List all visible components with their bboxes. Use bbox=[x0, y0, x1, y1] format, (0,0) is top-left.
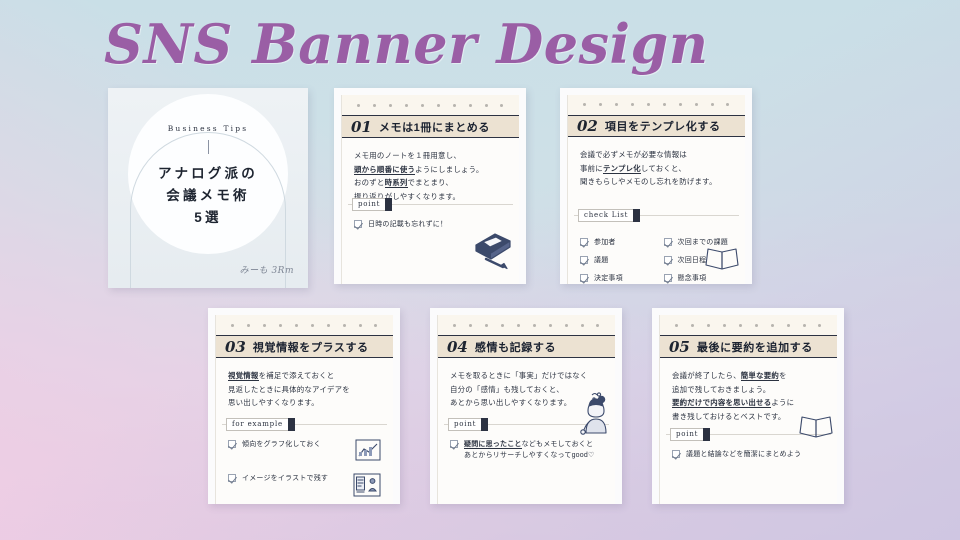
punch-hole-dot bbox=[437, 104, 440, 107]
punch-hole-dot bbox=[583, 103, 586, 106]
card-sheet: 03 視覚情報をプラスする 視覚情報を補足で添えておくと見返したときに具体的なア… bbox=[215, 315, 393, 504]
check-text-run: 日時の記載も忘れずに！ bbox=[368, 221, 447, 228]
checkbox-checked-icon[interactable] bbox=[580, 238, 588, 246]
card-body-line-1: メモ用のノートを１冊用意し、 bbox=[354, 149, 507, 163]
body-text-run: ように bbox=[771, 398, 794, 407]
punch-hole-dot bbox=[581, 324, 584, 327]
body-text-run: 聞きもらしやメモのし忘れを防げます。 bbox=[580, 177, 717, 186]
checklist-item-1[interactable]: 傾向をグラフ化しておく bbox=[228, 439, 381, 466]
checklist-label: 議題 bbox=[594, 255, 608, 266]
checkbox-checked-icon[interactable] bbox=[664, 256, 672, 264]
checklist-item-1[interactable]: 疑問に思ったことなどもメモしておくとあとからリサーチしやすくなってgood♡ bbox=[450, 439, 603, 461]
punch-hole-dot bbox=[711, 103, 714, 106]
punch-hole-dot bbox=[599, 103, 602, 106]
body-text-run: テンプレ化 bbox=[603, 164, 641, 174]
punch-hole-dot bbox=[469, 104, 472, 107]
body-text-run: メモを取るときに「事実」だけではなく bbox=[450, 371, 588, 380]
checkbox-checked-icon[interactable] bbox=[354, 220, 362, 228]
punch-hole-dot bbox=[771, 324, 774, 327]
punch-hole-dot bbox=[500, 104, 503, 107]
section-chip-block bbox=[703, 428, 710, 441]
page-title: SNS Banner Design bbox=[104, 12, 709, 76]
card-number: 03 bbox=[225, 338, 246, 356]
tip-card-01[interactable]: 01 メモは1冊にまとめる メモ用のノートを１冊用意し、頭から順番に使うようにし… bbox=[334, 88, 526, 284]
open-book-icon bbox=[798, 413, 834, 446]
cover-title-line-3: 5選 bbox=[194, 207, 221, 229]
body-text-run: を補足で添えておくと bbox=[259, 371, 335, 380]
punch-hole-dot bbox=[421, 104, 424, 107]
punch-hole-row bbox=[438, 315, 615, 335]
section-chip-block bbox=[288, 418, 295, 431]
body-text-run: 時系列 bbox=[385, 178, 408, 188]
punch-hole-dot bbox=[501, 324, 504, 327]
check-text-run: あとからリサーチしやすくなってgood♡ bbox=[464, 452, 594, 459]
punch-hole-dot bbox=[343, 324, 346, 327]
punch-hole-dot bbox=[615, 103, 618, 106]
body-text-run: 思い出しやすくなります。 bbox=[228, 398, 319, 407]
checklist-label: 懸念事項 bbox=[678, 273, 707, 284]
section-chip: point bbox=[670, 428, 710, 441]
card-header: 04 感情も記録する bbox=[438, 335, 615, 358]
checklist-label: 日時の記載も忘れずに！ bbox=[368, 219, 447, 230]
punch-hole-dot bbox=[565, 324, 568, 327]
body-text-run: 要約だけで内容を思い出せる bbox=[672, 398, 771, 408]
card-header: 01 メモは1冊にまとめる bbox=[342, 115, 519, 138]
punch-hole-dot bbox=[695, 103, 698, 106]
punch-hole-row bbox=[342, 95, 519, 115]
card-body-line-2: 追加で残しておきましょう。 bbox=[672, 383, 825, 397]
punch-hole-dot bbox=[533, 324, 536, 327]
punch-hole-dot bbox=[631, 103, 634, 106]
punch-hole-dot bbox=[405, 104, 408, 107]
card-body-line-2: 見返したときに具体的なアイデアを bbox=[228, 383, 381, 397]
body-text-run: メモ用のノートを１冊用意し、 bbox=[354, 151, 461, 160]
checklist-label: 議題と結論などを簡潔にまとめよう bbox=[686, 449, 801, 460]
punch-hole-row bbox=[568, 95, 745, 115]
body-text-run: おのずと bbox=[354, 178, 385, 187]
card-sheet: 05 最後に要約を追加する 会議が終了したら、簡単な要約を追加で残しておきましょ… bbox=[659, 315, 837, 504]
punch-hole-dot bbox=[485, 324, 488, 327]
checklist-item-2[interactable]: イメージをイラストで残す bbox=[228, 473, 381, 502]
body-text-run: しておくと、 bbox=[641, 164, 686, 173]
section-chip: check List bbox=[578, 209, 640, 222]
cover-eyebrow: Business Tips bbox=[168, 124, 249, 133]
checkbox-checked-icon[interactable] bbox=[580, 274, 588, 282]
checkbox-checked-icon[interactable] bbox=[228, 440, 236, 448]
checklist: 傾向をグラフ化しておく イメージをイラストで残す bbox=[228, 439, 381, 502]
tip-card-04[interactable]: 04 感情も記録する メモを取るときに「事実」だけではなく自分の「感情」も残して… bbox=[430, 308, 622, 504]
section-chip-label: point bbox=[352, 198, 385, 211]
punch-hole-dot bbox=[596, 324, 599, 327]
card-title: 最後に要約を追加する bbox=[697, 339, 813, 355]
body-text-run: を bbox=[779, 371, 787, 380]
bar-chart-icon bbox=[355, 439, 381, 466]
card-body-line-3: 聞きもらしやメモのし忘れを防げます。 bbox=[580, 175, 733, 189]
checkbox-checked-icon[interactable] bbox=[672, 450, 680, 458]
checklist-item-1[interactable]: 議題と結論などを簡潔にまとめよう bbox=[672, 449, 825, 460]
punch-hole-dot bbox=[453, 324, 456, 327]
checkbox-checked-icon[interactable] bbox=[228, 474, 236, 482]
punch-hole-dot bbox=[803, 324, 806, 327]
section-chip: point bbox=[448, 418, 488, 431]
card-body-line-2: 頭から順番に使うようにしましょう。 bbox=[354, 163, 507, 177]
section-chip-label: point bbox=[670, 428, 703, 441]
checkbox-checked-icon[interactable] bbox=[580, 256, 588, 264]
checkbox-checked-icon[interactable] bbox=[664, 238, 672, 246]
punch-hole-dot bbox=[679, 103, 682, 106]
checklist: 議題と結論などを簡潔にまとめよう bbox=[672, 449, 825, 460]
body-text-run: 事前に bbox=[580, 164, 603, 173]
section-chip: point bbox=[352, 198, 392, 211]
card-body-line-3: 思い出しやすくなります。 bbox=[228, 396, 381, 410]
punch-hole-dot bbox=[295, 324, 298, 327]
punch-hole-dot bbox=[247, 324, 250, 327]
card-number: 05 bbox=[669, 338, 690, 356]
punch-hole-dot bbox=[755, 324, 758, 327]
section-chip-label: for example bbox=[226, 418, 288, 431]
open-book-icon bbox=[704, 245, 740, 278]
tip-card-02[interactable]: 02 項目をテンプレ化する 会議で必ずメモが必要な情報は事前にテンプレ化しておく… bbox=[560, 88, 752, 284]
punch-hole-dot bbox=[311, 324, 314, 327]
card-header: 02 項目をテンプレ化する bbox=[568, 115, 745, 137]
notebook-and-pen-icon bbox=[470, 229, 516, 276]
cover-title-line-1: アナログ派の bbox=[158, 163, 258, 185]
punch-hole-dot bbox=[739, 324, 742, 327]
body-text-run: あとから思い出しやすくなります。 bbox=[450, 398, 571, 407]
card-title: 項目をテンプレ化する bbox=[605, 118, 721, 134]
illustration-icon bbox=[353, 473, 381, 502]
punch-hole-dot bbox=[707, 324, 710, 327]
body-text-run: ようにしましょう。 bbox=[415, 165, 483, 174]
cover-signature: みーも 3Rm bbox=[240, 263, 294, 276]
punch-hole-dot bbox=[726, 103, 729, 106]
cover-card[interactable]: Business Tips アナログ派の 会議メモ術 5選 みーも 3Rm bbox=[108, 88, 308, 288]
check-text-run: などもメモしておくと bbox=[522, 441, 594, 448]
body-text-run: 追加で残しておきましょう。 bbox=[672, 385, 770, 394]
card-title: 視覚情報をプラスする bbox=[253, 339, 369, 355]
card-body-line-1: 会議で必ずメモが必要な情報は bbox=[580, 148, 733, 162]
body-text-run: 会議で必ずメモが必要な情報は bbox=[580, 150, 687, 159]
check-text-run: 議題と結論などを簡潔にまとめよう bbox=[686, 451, 801, 458]
section-chip-block bbox=[385, 198, 392, 211]
body-text-run: 会議が終了したら、 bbox=[672, 371, 741, 380]
punch-hole-dot bbox=[675, 324, 678, 327]
checklist: 疑問に思ったことなどもメモしておくとあとからリサーチしやすくなってgood♡ bbox=[450, 439, 603, 461]
body-text-run: でまとまり、 bbox=[408, 178, 454, 187]
punch-hole-dot bbox=[357, 104, 360, 107]
card-header: 03 視覚情報をプラスする bbox=[216, 335, 393, 358]
card-body-line-2: 事前にテンプレ化しておくと、 bbox=[580, 162, 733, 176]
card-title: 感情も記録する bbox=[475, 339, 556, 355]
tip-card-03[interactable]: 03 視覚情報をプラスする 視覚情報を補足で添えておくと見返したときに具体的なア… bbox=[208, 308, 400, 504]
punch-hole-dot bbox=[691, 324, 694, 327]
body-text-run: 自分の「感情」も残しておくと、 bbox=[450, 385, 564, 394]
card-number: 04 bbox=[447, 338, 468, 356]
tip-card-05[interactable]: 05 最後に要約を追加する 会議が終了したら、簡単な要約を追加で残しておきましょ… bbox=[652, 308, 844, 504]
section-chip-label: point bbox=[448, 418, 481, 431]
checklist-label: 疑問に思ったことなどもメモしておくとあとからリサーチしやすくなってgood♡ bbox=[464, 439, 594, 461]
punch-hole-dot bbox=[647, 103, 650, 106]
punch-hole-dot bbox=[549, 324, 552, 327]
card-number: 02 bbox=[577, 117, 598, 135]
body-text-run: 見返したときに具体的なアイデアを bbox=[228, 385, 350, 394]
checklist-item-left-3[interactable]: 決定事項 bbox=[580, 273, 650, 284]
punch-hole-row bbox=[660, 315, 837, 335]
card-body-line-3: おのずと時系列でまとまり、 bbox=[354, 176, 507, 190]
body-text-run: 視覚情報 bbox=[228, 371, 259, 381]
body-text-run: 書き残しておけるとベストです。 bbox=[672, 412, 786, 421]
punch-hole-dot bbox=[485, 104, 488, 107]
checkbox-checked-icon[interactable] bbox=[450, 440, 458, 448]
checklist-label: 傾向をグラフ化しておく bbox=[242, 439, 321, 450]
checklist-label: 次回日程 bbox=[678, 255, 707, 266]
punch-hole-dot bbox=[374, 324, 377, 327]
cover-title-line-2: 会議メモ術 bbox=[166, 185, 250, 207]
thinking-person-icon bbox=[574, 391, 614, 442]
punch-hole-dot bbox=[469, 324, 472, 327]
card-title: メモは1冊にまとめる bbox=[379, 119, 490, 135]
punch-hole-dot bbox=[263, 324, 266, 327]
section-chip-block bbox=[633, 209, 640, 222]
card-header: 05 最後に要約を追加する bbox=[660, 335, 837, 358]
cover-divider bbox=[208, 140, 209, 154]
section-chip: for example bbox=[226, 418, 295, 431]
punch-hole-dot bbox=[359, 324, 362, 327]
card-body-line-1: メモを取るときに「事実」だけではなく bbox=[450, 369, 603, 383]
check-text-run: イメージをイラストで残す bbox=[242, 475, 328, 482]
punch-hole-dot bbox=[373, 104, 376, 107]
checklist-column-left: 参加者 議題 決定事項 bbox=[580, 230, 650, 284]
card-body-line-1: 視覚情報を補足で添えておくと bbox=[228, 369, 381, 383]
punch-hole-dot bbox=[723, 324, 726, 327]
checklist-label: イメージをイラストで残す bbox=[242, 473, 328, 484]
checklist-item-left-2[interactable]: 議題 bbox=[580, 255, 650, 266]
check-text-run: 疑問に思ったこと bbox=[464, 441, 522, 449]
checklist-label: 参加者 bbox=[594, 237, 616, 248]
body-text-run: 簡単な要約 bbox=[741, 371, 779, 381]
card-number: 01 bbox=[351, 118, 372, 136]
punch-hole-dot bbox=[787, 324, 790, 327]
checkbox-checked-icon[interactable] bbox=[664, 274, 672, 282]
card-body-line-1: 会議が終了したら、簡単な要約を bbox=[672, 369, 825, 383]
punch-hole-dot bbox=[231, 324, 234, 327]
body-text-run: 頭から順番に使う bbox=[354, 165, 415, 175]
section-chip-block bbox=[481, 418, 488, 431]
punch-hole-dot bbox=[453, 104, 456, 107]
punch-hole-dot bbox=[818, 324, 821, 327]
check-text-run: 傾向をグラフ化しておく bbox=[242, 441, 321, 448]
punch-hole-dot bbox=[389, 104, 392, 107]
punch-hole-row bbox=[216, 315, 393, 335]
punch-hole-dot bbox=[517, 324, 520, 327]
checklist-item-left-1[interactable]: 参加者 bbox=[580, 237, 650, 248]
punch-hole-dot bbox=[663, 103, 666, 106]
punch-hole-dot bbox=[327, 324, 330, 327]
card-body-line-3: 要約だけで内容を思い出せるように bbox=[672, 396, 825, 410]
card-body: 視覚情報を補足で添えておくと見返したときに具体的なアイデアを思い出しやすくなりま… bbox=[216, 358, 393, 504]
punch-hole-dot bbox=[279, 324, 282, 327]
section-chip-label: check List bbox=[578, 209, 633, 222]
checklist-label: 決定事項 bbox=[594, 273, 623, 284]
